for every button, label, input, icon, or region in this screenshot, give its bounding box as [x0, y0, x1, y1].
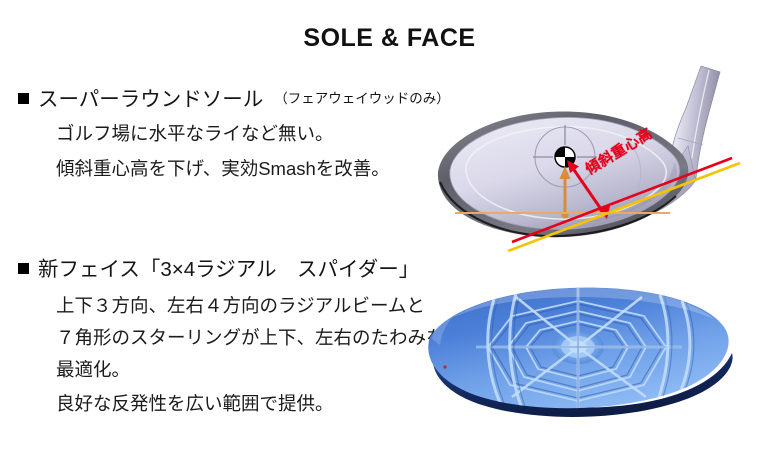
bullet-square-icon — [18, 263, 29, 274]
bullet-heading-face: 新フェイス「3×4ラジアル スパイダー」 — [18, 252, 419, 282]
slide-root: SOLE & FACE スーパーラウンドソール （フェアウェイウッドのみ） ゴル… — [0, 0, 779, 460]
bullet-square-icon — [18, 93, 29, 104]
face-line-4: 良好な反発性を広い範囲で提供。 — [56, 390, 334, 416]
sole-line-2: 傾斜重心高を下げ、実効Smashを改善。 — [56, 155, 390, 181]
bullet-heading-sole-text: スーパーラウンドソール — [38, 82, 263, 112]
face-line-2: ７角形のスターリングが上下、左右のたわみを — [56, 324, 445, 350]
bullet-heading-face-text: 新フェイス「3×4ラジアル スパイダー」 — [38, 252, 419, 282]
bullet-heading-sole: スーパーラウンドソール （フェアウェイウッドのみ） — [18, 82, 450, 112]
sole-line-1: ゴルフ場に水平なライなど無い。 — [56, 120, 334, 146]
face-heel-mark — [443, 365, 446, 368]
text-column: スーパーラウンドソール （フェアウェイウッドのみ） ゴルフ場に水平なライなど無い… — [0, 0, 430, 460]
club-face-figure — [420, 275, 779, 425]
face-line-1: 上下３方向、左右４方向のラジアルビームと — [56, 292, 425, 318]
face-line-3: 最適化。 — [56, 356, 130, 382]
